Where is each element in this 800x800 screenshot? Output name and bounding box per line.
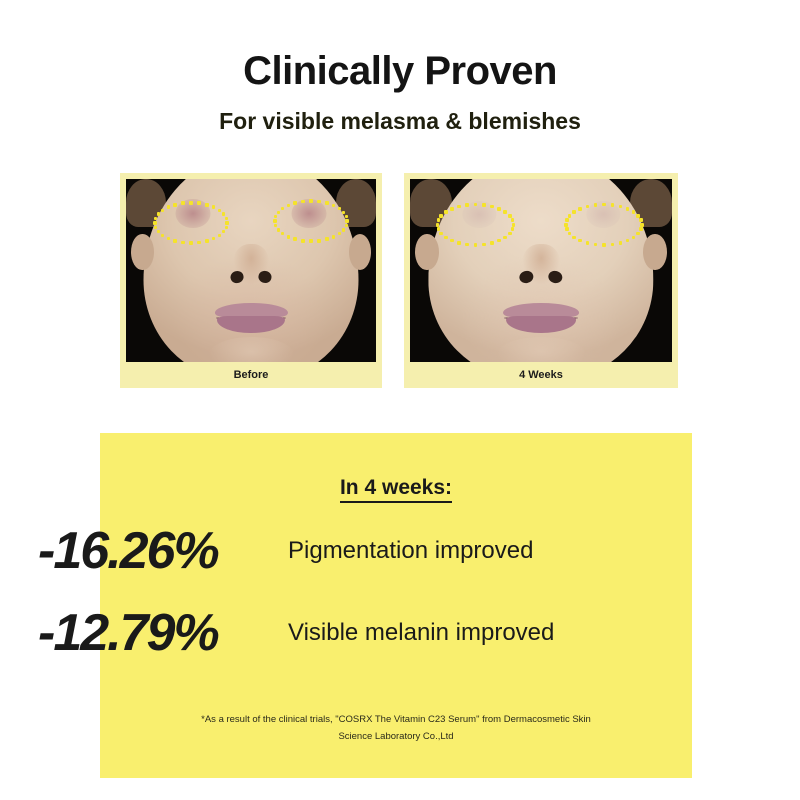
after-caption: 4 Weeks — [410, 362, 672, 388]
after-photo-card: 4 Weeks — [404, 173, 678, 388]
footnote: *As a result of the clinical trials, "CO… — [100, 712, 692, 745]
footnote-line-1: *As a result of the clinical trials, "CO… — [100, 712, 692, 729]
after-photo — [410, 179, 672, 362]
before-after-comparison: Before — [120, 173, 678, 388]
stat-value-melanin: -12.79% — [38, 606, 288, 661]
before-caption: Before — [126, 362, 376, 388]
before-photo — [126, 179, 376, 362]
stat-label-melanin: Visible melanin improved — [288, 619, 554, 648]
page-title: Clinically Proven — [0, 50, 800, 92]
dotted-ellipse-icon — [126, 179, 376, 362]
clinical-results-infographic: Clinically Proven For visible melasma & … — [0, 0, 800, 800]
stat-row-pigmentation: -16.26% Pigmentation improved — [38, 524, 558, 579]
stat-row-melanin: -12.79% Visible melanin improved — [38, 606, 558, 661]
after-face-image — [410, 179, 672, 362]
before-face-image — [126, 179, 376, 362]
stat-label-pigmentation: Pigmentation improved — [288, 537, 533, 566]
footnote-line-2: Science Laboratory Co.,Ltd — [100, 729, 692, 746]
stat-value-pigmentation: -16.26% — [38, 524, 288, 579]
results-heading-text: In 4 weeks: — [340, 476, 452, 503]
page-subtitle: For visible melasma & blemishes — [0, 108, 800, 136]
results-heading: In 4 weeks: — [100, 476, 692, 500]
dotted-ellipse-icon — [410, 179, 672, 362]
before-photo-card: Before — [120, 173, 382, 388]
